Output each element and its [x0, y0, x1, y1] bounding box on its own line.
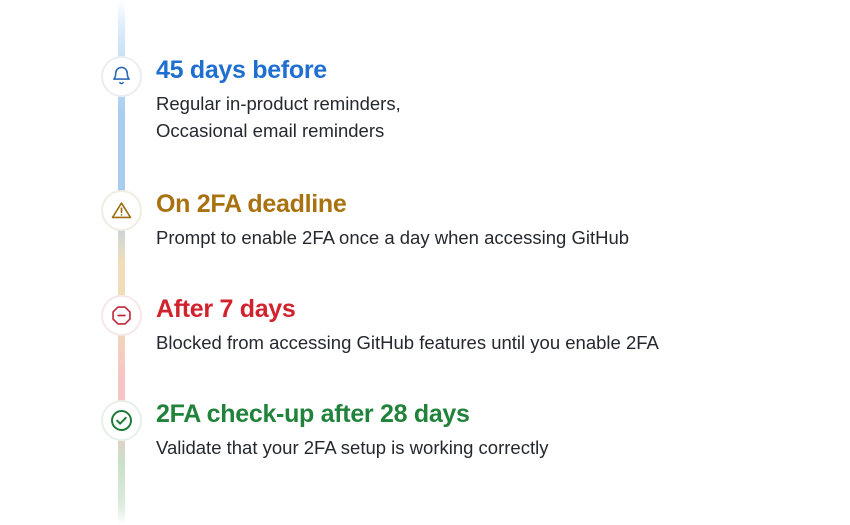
milestone-text-0: 45 days before Regular in-product remind…: [156, 56, 846, 144]
milestone-description-line: Validate that your 2FA setup is working …: [156, 434, 846, 461]
timeline-graphic: 45 days before Regular in-product remind…: [0, 0, 850, 525]
milestone-description-line: Prompt to enable 2FA once a day when acc…: [156, 224, 846, 251]
milestone-node-0: [101, 56, 142, 97]
milestone-node-3: [101, 400, 142, 441]
milestone-text-3: 2FA check-up after 28 days Validate that…: [156, 400, 846, 461]
blocked-octagon-icon: [110, 304, 133, 327]
milestone-title: On 2FA deadline: [156, 190, 846, 218]
milestone-node-2: [101, 295, 142, 336]
milestone-description-line: Regular in-product reminders,: [156, 90, 846, 117]
milestone-node-1: [101, 190, 142, 231]
milestone-title: After 7 days: [156, 295, 846, 323]
milestone-description-line: Occasional email reminders: [156, 117, 846, 144]
warning-triangle-icon: [110, 199, 133, 222]
milestone-description-line: Blocked from accessing GitHub features u…: [156, 329, 846, 356]
milestone-text-1: On 2FA deadline Prompt to enable 2FA onc…: [156, 190, 846, 251]
milestone-title: 45 days before: [156, 56, 846, 84]
check-circle-icon: [109, 408, 134, 433]
milestone-title: 2FA check-up after 28 days: [156, 400, 846, 428]
bell-icon: [110, 65, 133, 88]
milestone-text-2: After 7 days Blocked from accessing GitH…: [156, 295, 846, 356]
